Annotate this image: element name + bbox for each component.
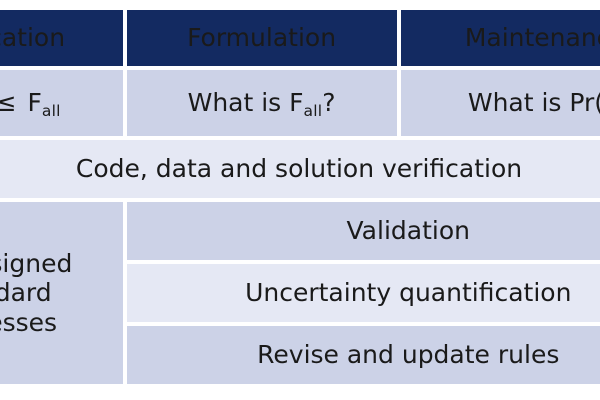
question-formulation-pre: What is F xyxy=(188,88,304,117)
standard-processes-line-3: cesses xyxy=(0,308,113,338)
question-formulation-post: ? xyxy=(322,88,335,117)
less-than-or-equal-icon: ≤ xyxy=(0,88,20,117)
table-row-validation: designed ndard cesses Validation xyxy=(0,202,600,260)
question-formulation-subscript: all xyxy=(304,102,323,120)
question-verification-base: F xyxy=(20,88,42,117)
cell-activity-uncertainty-quantification: Uncertainty quantification xyxy=(127,264,600,322)
figure-viewport: ification Formulation Maintenance x ≤ Fa… xyxy=(0,0,600,400)
cell-code-data-solution-verification: Code, data and solution verification xyxy=(0,140,600,198)
question-verification-subscript: all xyxy=(42,102,61,120)
table-header-row: ification Formulation Maintenance xyxy=(0,10,600,66)
standard-processes-line-1: designed xyxy=(0,249,113,279)
cell-question-maintenance: What is Pr(N xyxy=(401,70,600,136)
cell-activity-validation: Validation xyxy=(127,202,600,260)
question-maintenance-pre: What is Pr(N xyxy=(468,88,600,117)
cell-question-verification: x ≤ Fall xyxy=(0,70,123,136)
standard-processes-line-2: ndard xyxy=(0,278,113,308)
header-cell-maintenance: Maintenance xyxy=(401,10,600,66)
header-cell-verification: ification xyxy=(0,10,123,66)
header-cell-formulation: Formulation xyxy=(127,10,397,66)
cell-activity-revise-and-update-rules: Revise and update rules xyxy=(127,326,600,384)
verification-validation-matrix: ification Formulation Maintenance x ≤ Fa… xyxy=(0,6,600,388)
cell-question-formulation: What is Fall? xyxy=(127,70,397,136)
table-row-verification: Code, data and solution verification xyxy=(0,140,600,198)
table-row-questions: x ≤ Fall What is Fall? What is Pr(N xyxy=(0,70,600,136)
cell-standard-processes-block: designed ndard cesses xyxy=(0,202,123,384)
